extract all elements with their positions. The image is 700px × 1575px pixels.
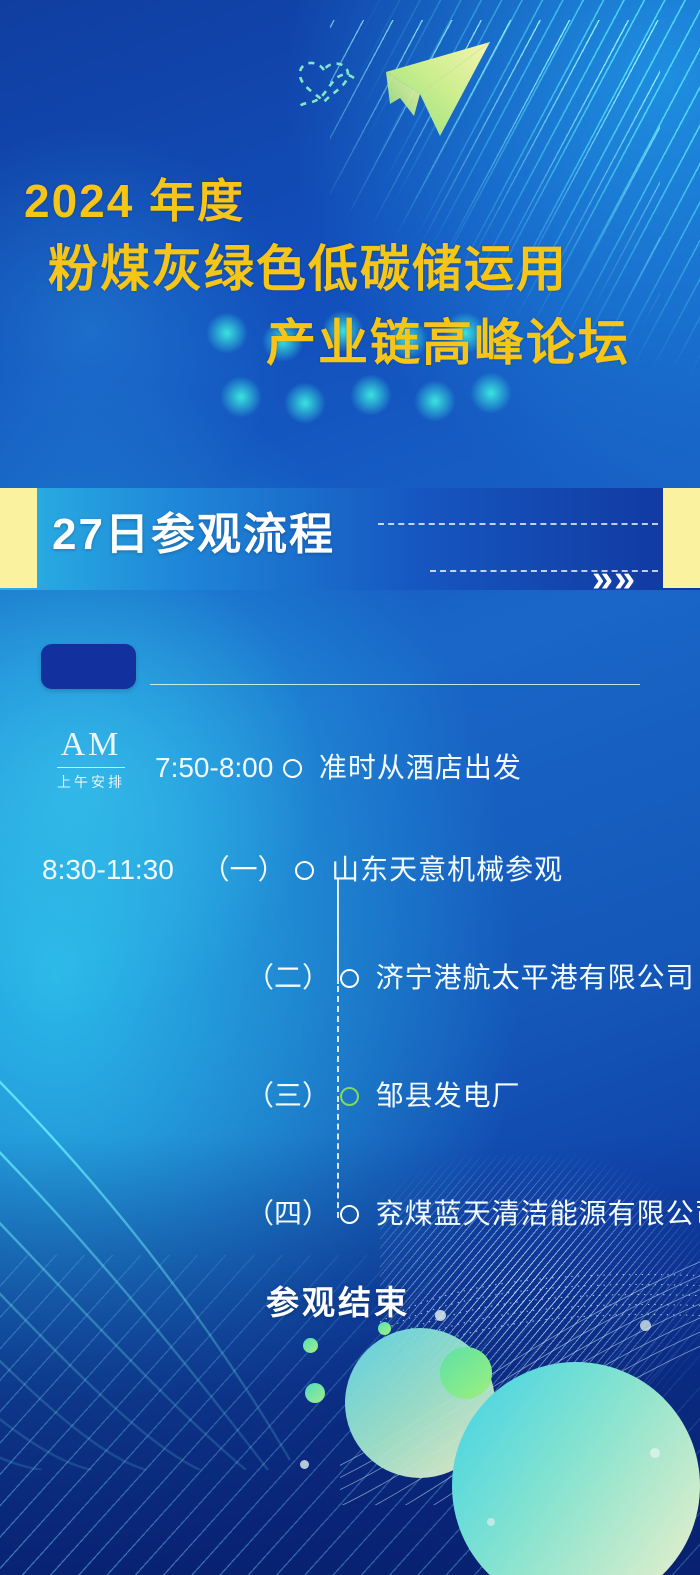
schedule-row: （三） 邹县发电厂 — [246, 1074, 521, 1114]
decorative-dot — [650, 1448, 660, 1458]
schedule-row: （四） 兖煤蓝天清洁能源有限公司 — [246, 1192, 700, 1232]
schedule-label: 济宁港航太平港有限公司 — [376, 956, 695, 996]
poster-canvas: 2024 年度 粉煤灰绿色低碳储运用 产业链高峰论坛 27日参观流程 » AM … — [0, 0, 700, 1575]
section-dashed-rule-top — [378, 523, 658, 525]
accent-bar-right — [663, 488, 700, 588]
schedule-label: 山东天意机械参观 — [331, 848, 563, 888]
timeline-marker-icon — [340, 1087, 359, 1106]
accent-bar-left — [0, 488, 37, 588]
title-line-3: 产业链高峰论坛 — [266, 306, 700, 380]
decorative-dot — [303, 1338, 318, 1353]
timeline-marker-icon — [340, 969, 359, 988]
schedule-time: 8:30-11:30 — [42, 854, 174, 886]
poster-title: 2024 年度 粉煤灰绿色低碳储运用 产业链高峰论坛 — [0, 170, 700, 380]
paper-plane-icon — [268, 36, 528, 146]
am-abbr: AM — [48, 726, 134, 764]
schedule-time: 7:50-8:00 — [155, 752, 273, 784]
timeline-marker-icon — [340, 1205, 359, 1224]
schedule-label: 邹县发电厂 — [376, 1074, 521, 1114]
timeline-marker-icon — [283, 759, 302, 778]
schedule-ordinal: （一） — [202, 848, 286, 888]
am-badge: AM 上午安排 — [48, 726, 134, 792]
decorative-dot — [300, 1460, 309, 1469]
chevron-right-icon: » — [592, 560, 613, 598]
decorative-dot — [487, 1518, 495, 1526]
schedule-ordinal: （四） — [246, 1192, 330, 1232]
schedule-label: 兖煤蓝天清洁能源有限公司 — [376, 1192, 700, 1232]
decorative-dot — [435, 1310, 446, 1321]
am-subtitle: 上午安排 — [48, 772, 134, 792]
section-tag-pill — [41, 644, 136, 689]
decorative-circle-small-green — [440, 1347, 492, 1399]
chevron-right-icon: » — [614, 560, 635, 598]
timeline-marker-icon — [295, 861, 314, 880]
decorative-dot — [305, 1383, 325, 1403]
decorative-dot — [640, 1320, 651, 1331]
schedule-row: 8:30-11:30 （一） 山东天意机械参观 — [42, 848, 563, 888]
schedule-ordinal: （二） — [246, 956, 330, 996]
schedule-ordinal: （三） — [246, 1074, 330, 1114]
section-tag-rule — [150, 684, 640, 685]
end-label: 参观结束 — [266, 1276, 410, 1324]
schedule-label: 准时从酒店出发 — [319, 746, 522, 786]
title-line-2: 粉煤灰绿色低碳储运用 — [48, 232, 700, 306]
section-heading: 27日参观流程 — [52, 498, 335, 562]
am-divider — [57, 767, 125, 768]
title-line-1: 2024 年度 — [24, 170, 700, 232]
schedule-row: （二） 济宁港航太平港有限公司 — [246, 956, 695, 996]
schedule-row: 7:50-8:00 准时从酒店出发 — [155, 746, 522, 786]
